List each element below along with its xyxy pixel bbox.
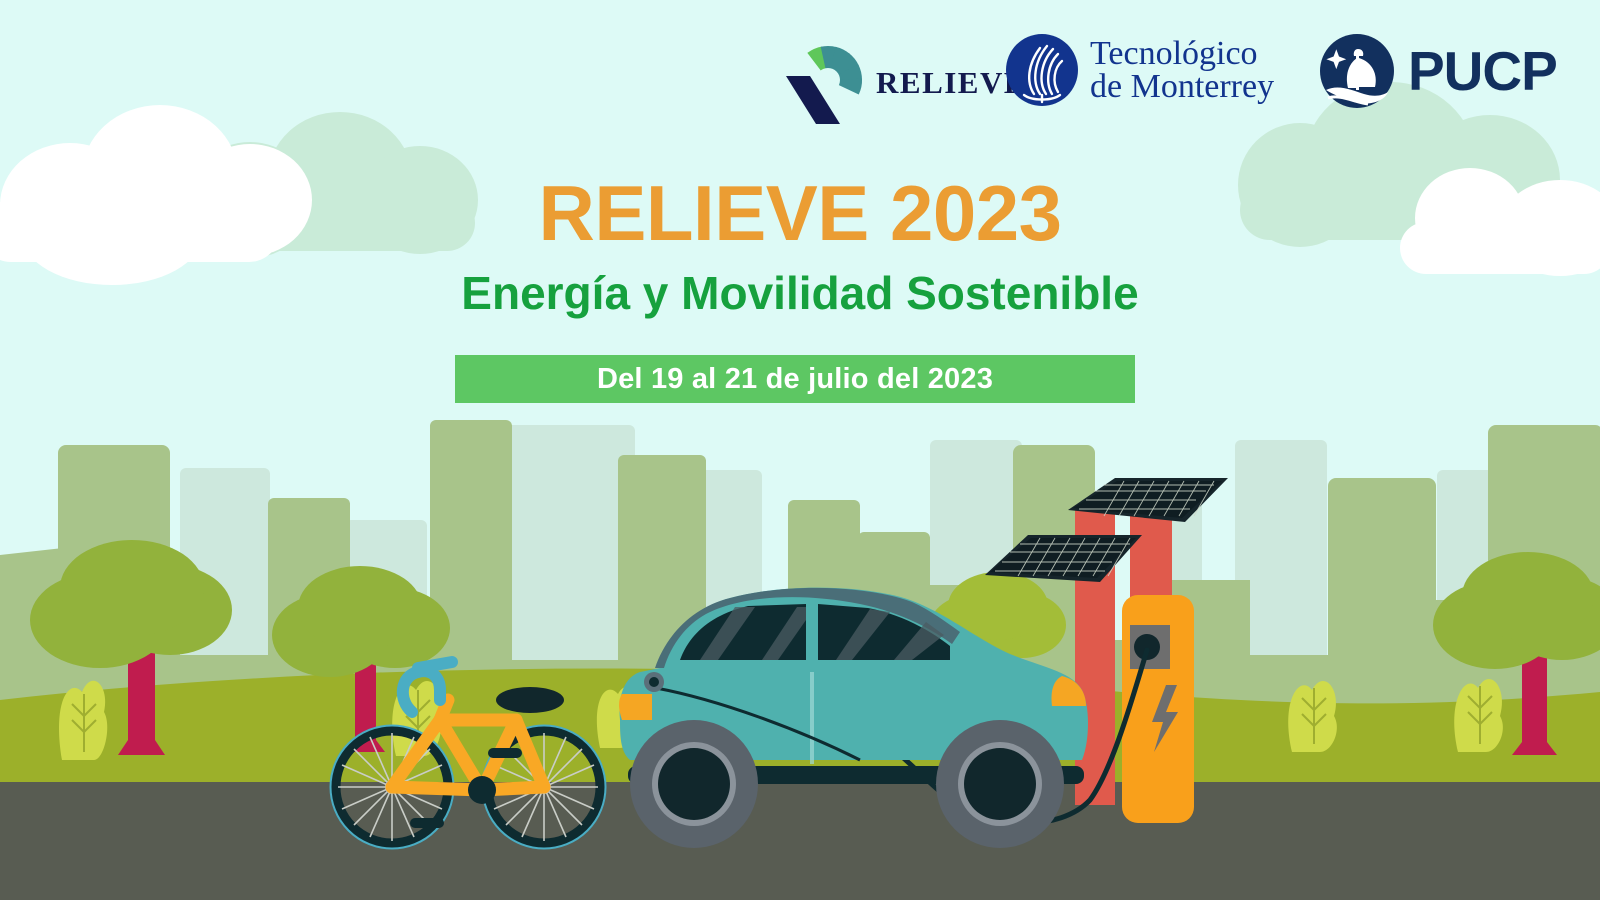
poster-canvas: RELIEVE Tecnológico de Monterrey (0, 0, 1600, 900)
tec-de-monterrey-logo[interactable]: Tecnológico de Monterrey (1004, 32, 1274, 108)
bike-seat (496, 687, 564, 713)
bike-crank (468, 776, 496, 804)
tec-flame-icon (1004, 32, 1080, 108)
car-wheel-rear (936, 720, 1064, 848)
cityscape-layer (0, 0, 1600, 900)
pucp-ship-icon (1318, 32, 1396, 110)
logo-row: RELIEVE Tecnológico de Monterrey (0, 20, 1600, 120)
page-title: RELIEVE 2023 (0, 168, 1600, 259)
tec-logo-text: Tecnológico de Monterrey (1090, 37, 1274, 104)
event-date-banner: Del 19 al 21 de julio del 2023 (455, 355, 1135, 403)
event-date-text: Del 19 al 21 de julio del 2023 (597, 363, 993, 396)
relieve-logo[interactable]: RELIEVE (776, 38, 1026, 128)
tec-logo-line1: Tecnológico (1090, 37, 1274, 70)
relieve-mark-icon (776, 38, 876, 128)
pucp-logo[interactable]: PUCP (1318, 32, 1557, 110)
car-wheel-front (630, 720, 758, 848)
tec-logo-line2: de Monterrey (1090, 70, 1274, 103)
pucp-logo-text: PUCP (1408, 39, 1557, 103)
page-subtitle: Energía y Movilidad Sostenible (0, 266, 1600, 320)
bike-pedal-upper (488, 748, 522, 758)
ev-charging-station (1122, 595, 1194, 823)
road (0, 782, 1600, 900)
bike-pedal-lower (410, 818, 444, 828)
